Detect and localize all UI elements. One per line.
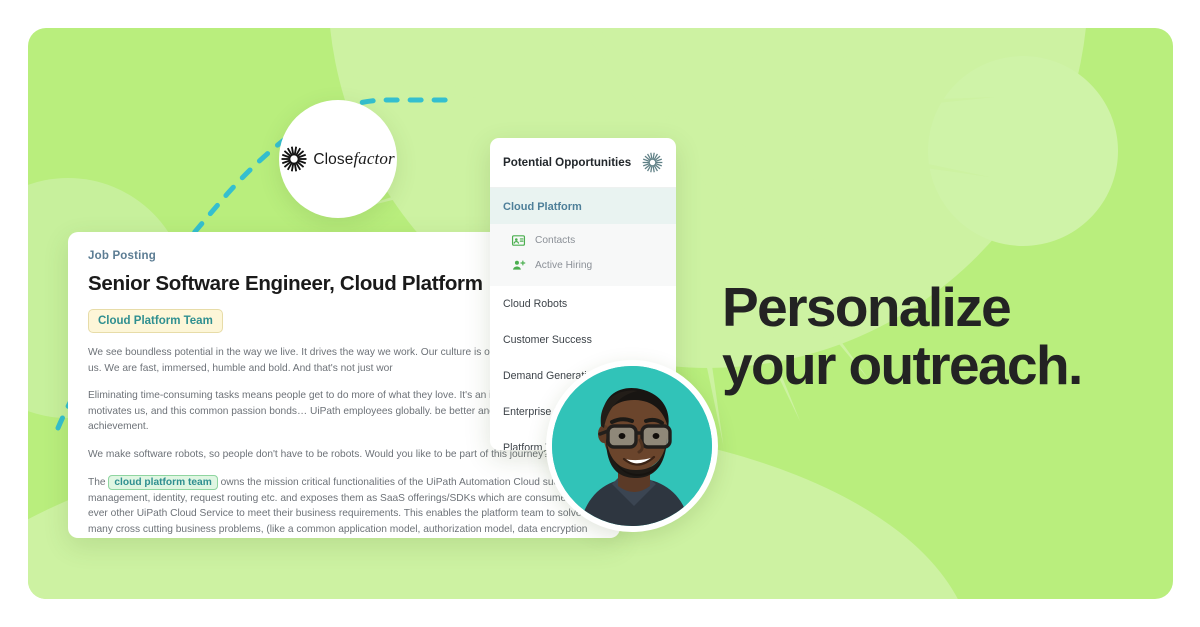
opportunity-sub-item-contacts[interactable]: Contacts	[490, 228, 676, 253]
logo-word-close: Close	[313, 151, 353, 168]
opportunity-sub-item-label: Contacts	[535, 235, 575, 246]
panel-header: Potential Opportunities	[490, 138, 676, 188]
closefactor-logo-badge: Closefactor	[279, 100, 397, 218]
opportunity-sub-item-label: Active Hiring	[535, 260, 592, 271]
background-blob-right-circle	[928, 56, 1118, 246]
opportunity-row-cloud-robots[interactable]: Cloud Robots	[490, 286, 676, 322]
avatar	[546, 360, 718, 532]
sunburst-icon	[642, 152, 663, 173]
closefactor-wordmark: Closefactor	[313, 149, 394, 169]
person-add-icon	[511, 258, 526, 273]
opportunity-row-customer-success[interactable]: Customer Success	[490, 322, 676, 358]
opportunity-group-cloud-platform[interactable]: Cloud Platform	[490, 188, 676, 224]
job-paragraph-4: The cloud platform team owns the mission…	[88, 475, 608, 538]
highlighted-entity: cloud platform team	[108, 475, 217, 490]
promo-canvas: Closefactor Job Posting Senior Software …	[28, 28, 1173, 599]
contact-card-icon	[511, 233, 526, 248]
job-posting-team-tag: Cloud Platform Team	[88, 309, 223, 333]
headline-line-2: your outreach.	[722, 336, 1082, 394]
panel-title: Potential Opportunities	[503, 156, 631, 169]
opportunity-sub-items: Contacts Active Hiring	[490, 224, 676, 286]
logo-word-factor: factor	[353, 149, 394, 168]
job-paragraph-4-prefix: The	[88, 477, 108, 488]
opportunity-sub-item-active-hiring[interactable]: Active Hiring	[490, 253, 676, 278]
opportunity-group-label: Cloud Platform	[503, 201, 582, 213]
sunburst-icon	[281, 146, 307, 172]
headline-line-1: Personalize	[722, 278, 1082, 336]
page-title: Personalize your outreach.	[722, 278, 1082, 394]
avatar-photo	[552, 366, 712, 526]
